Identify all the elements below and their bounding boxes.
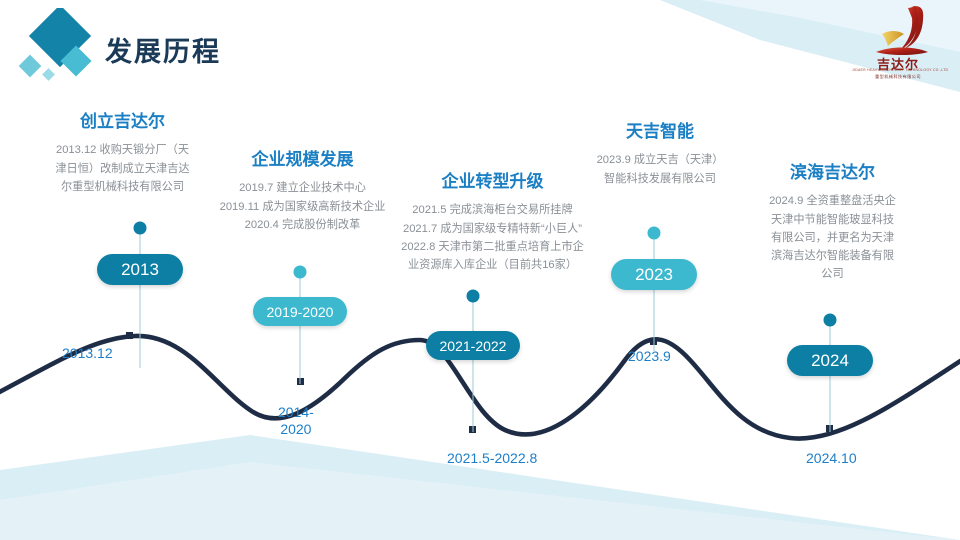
curve-label-2-line-2: 2020: [278, 421, 314, 438]
milestone-5-line-3: 有限公司，并更名为天津: [735, 229, 930, 247]
milestone-3-body: 2021.5 完成滨海柜台交易所挂牌 2021.7 成为国家级专精特新“小巨人”…: [370, 201, 615, 274]
milestone-3-line-1: 2021.5 完成滨海柜台交易所挂牌: [370, 201, 615, 219]
milestone-2-connector: 2019-2020: [253, 272, 347, 384]
milestone-4-body: 2023.9 成立天吉（天津） 智能科技发展有限公司: [560, 151, 760, 187]
milestone-5-pill[interactable]: 2024: [787, 345, 873, 376]
connector-dot: [467, 290, 480, 303]
milestone-2-pill[interactable]: 2019-2020: [253, 297, 347, 326]
milestone-5-line-4: 滨海吉达尔智能装备有限: [735, 247, 930, 265]
milestone-3-line-2: 2021.7 成为国家级专精特新“小巨人”: [370, 220, 615, 238]
milestone-4-line-1: 2023.9 成立天吉（天津）: [560, 151, 760, 169]
connector-line: [300, 272, 301, 384]
connector-line: [140, 228, 141, 368]
milestone-5-line-1: 2024.9 全资重整盘活央企: [735, 192, 930, 210]
milestone-4-connector: 2023: [607, 233, 701, 351]
milestone-5-connector: 2024: [783, 320, 877, 432]
milestone-5-body: 2024.9 全资重整盘活央企 天津中节能智能玻显科技 有限公司，并更名为天津 …: [735, 192, 930, 283]
curve-label-5: 2024.10: [806, 450, 857, 466]
diamond-cluster-icon: [18, 8, 100, 88]
curve-label-2-line-1: 2014-: [278, 404, 314, 421]
connector-line: [473, 296, 474, 432]
slide-header: 发展历程: [0, 0, 960, 100]
milestone-3-line-3: 2022.8 天津市第二批重点培育上市企: [370, 238, 615, 256]
milestone-4-title: 天吉智能: [560, 122, 760, 142]
curve-label-1: 2013.12: [62, 345, 113, 361]
connector-dot: [134, 222, 147, 235]
milestone-5-line-5: 公司: [735, 265, 930, 283]
connector-line: [830, 320, 831, 432]
milestone-5: 滨海吉达尔 2024.9 全资重整盘活央企 天津中节能智能玻显科技 有限公司，并…: [735, 163, 930, 283]
company-logo: 吉达尔 JIDAER HEAVY MACHINERY TECHNOLOGY CO…: [852, 4, 944, 88]
curve-label-2: 2014- 2020: [278, 404, 314, 437]
milestone-5-line-2: 天津中节能智能玻显科技: [735, 211, 930, 229]
slide-canvas: 发展历程 吉达尔 JIDAER HEAVY MACHINERY TECHNOL: [0, 0, 960, 540]
milestone-2-title: 企业规模发展: [195, 150, 410, 170]
milestone-3-connector: 2021-2022: [426, 296, 520, 432]
milestone-4: 天吉智能 2023.9 成立天吉（天津） 智能科技发展有限公司: [560, 122, 760, 188]
swoosh-logo-icon: [852, 4, 944, 60]
milestone-5-title: 滨海吉达尔: [735, 163, 930, 183]
milestone-4-line-2: 智能科技发展有限公司: [560, 170, 760, 188]
curve-label-3: 2021.5-2022.8: [447, 450, 537, 466]
milestone-3-pill[interactable]: 2021-2022: [426, 331, 520, 360]
connector-line: [654, 233, 655, 351]
connector-dot: [294, 266, 307, 279]
milestone-3-line-4: 业资源库入库企业（目前共16家）: [370, 256, 615, 274]
page-title: 发展历程: [105, 30, 221, 69]
brand-subtitle-en: JIDAER HEAVY MACHINERY TECHNOLOGY CO.,LT…: [852, 68, 944, 72]
brand-subtitle-cn: 重型机械科技有限公司: [852, 74, 944, 80]
milestone-1-title: 创立吉达尔: [15, 112, 230, 132]
connector-dot: [824, 314, 837, 327]
milestone-4-pill[interactable]: 2023: [611, 259, 697, 290]
milestone-1-pill[interactable]: 2013: [97, 254, 183, 285]
connector-dot: [648, 227, 661, 240]
curve-label-4: 2023.9: [628, 348, 671, 364]
